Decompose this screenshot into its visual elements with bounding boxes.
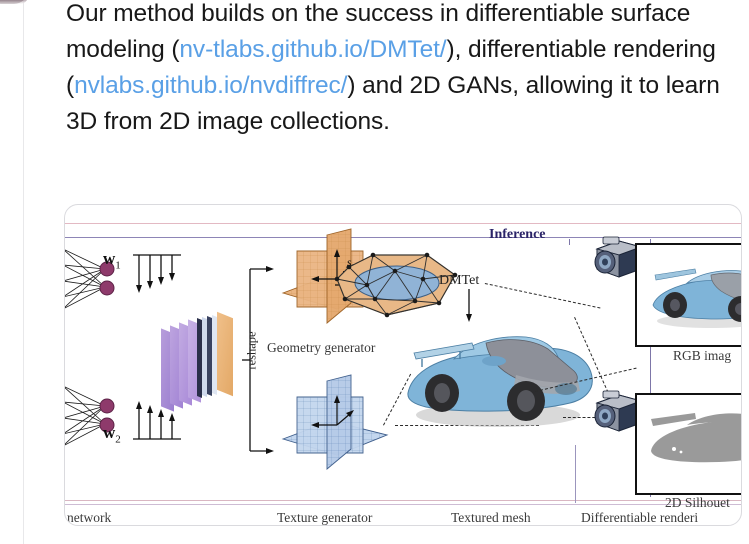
inference-tick [569,239,570,245]
silhouette-label: 2D Silhouet [665,495,730,511]
inference-label: Inference [489,227,546,243]
broadcast-arrows-up [133,397,183,446]
silhouette-image-box [635,393,742,495]
geometry-generator-label: Geometry generator [267,340,375,356]
rgb-image-box [635,243,742,347]
w2-symbol: w [103,423,115,442]
reshape-label: reshape [245,321,260,381]
figure-canvas: Inference w1 [65,205,741,525]
network-label: network [67,510,111,526]
rgb-image-label: RGB imag [673,348,731,364]
dmtet-label: DMTet [439,273,479,289]
link-dmtet[interactable]: nv-tlabs.github.io/DMTet/ [179,36,446,63]
w2-label: w2 [103,423,121,445]
figure-image-card[interactable]: Inference w1 [64,204,742,526]
rule-bottom-pink [65,500,741,501]
rule-bottom-pink-2 [65,504,741,505]
left-divider-rail [23,0,24,544]
w1-subscript: 1 [115,259,121,271]
differentiable-rendering-label: Differentiable renderi [581,510,698,526]
texture-triplane [275,373,395,488]
texture-generator-label: Texture generator [277,510,372,526]
column-separator [575,445,576,503]
w1-label: w1 [103,249,121,271]
link-nvdiffrec[interactable]: nvlabs.github.io/nvdiffrec/ [74,72,347,99]
w2-subscript: 2 [115,433,121,445]
ray-to-camera-top [485,283,601,309]
broadcast-arrows-down [133,253,183,302]
rule-top-pink [65,223,741,224]
textured-mesh-label: Textured mesh [451,510,531,526]
textured-mesh-car [398,315,598,438]
message-paragraph: Our method builds on the success in diff… [66,0,734,140]
reshape-bracket: reshape [240,265,276,455]
w1-symbol: w [103,249,115,268]
